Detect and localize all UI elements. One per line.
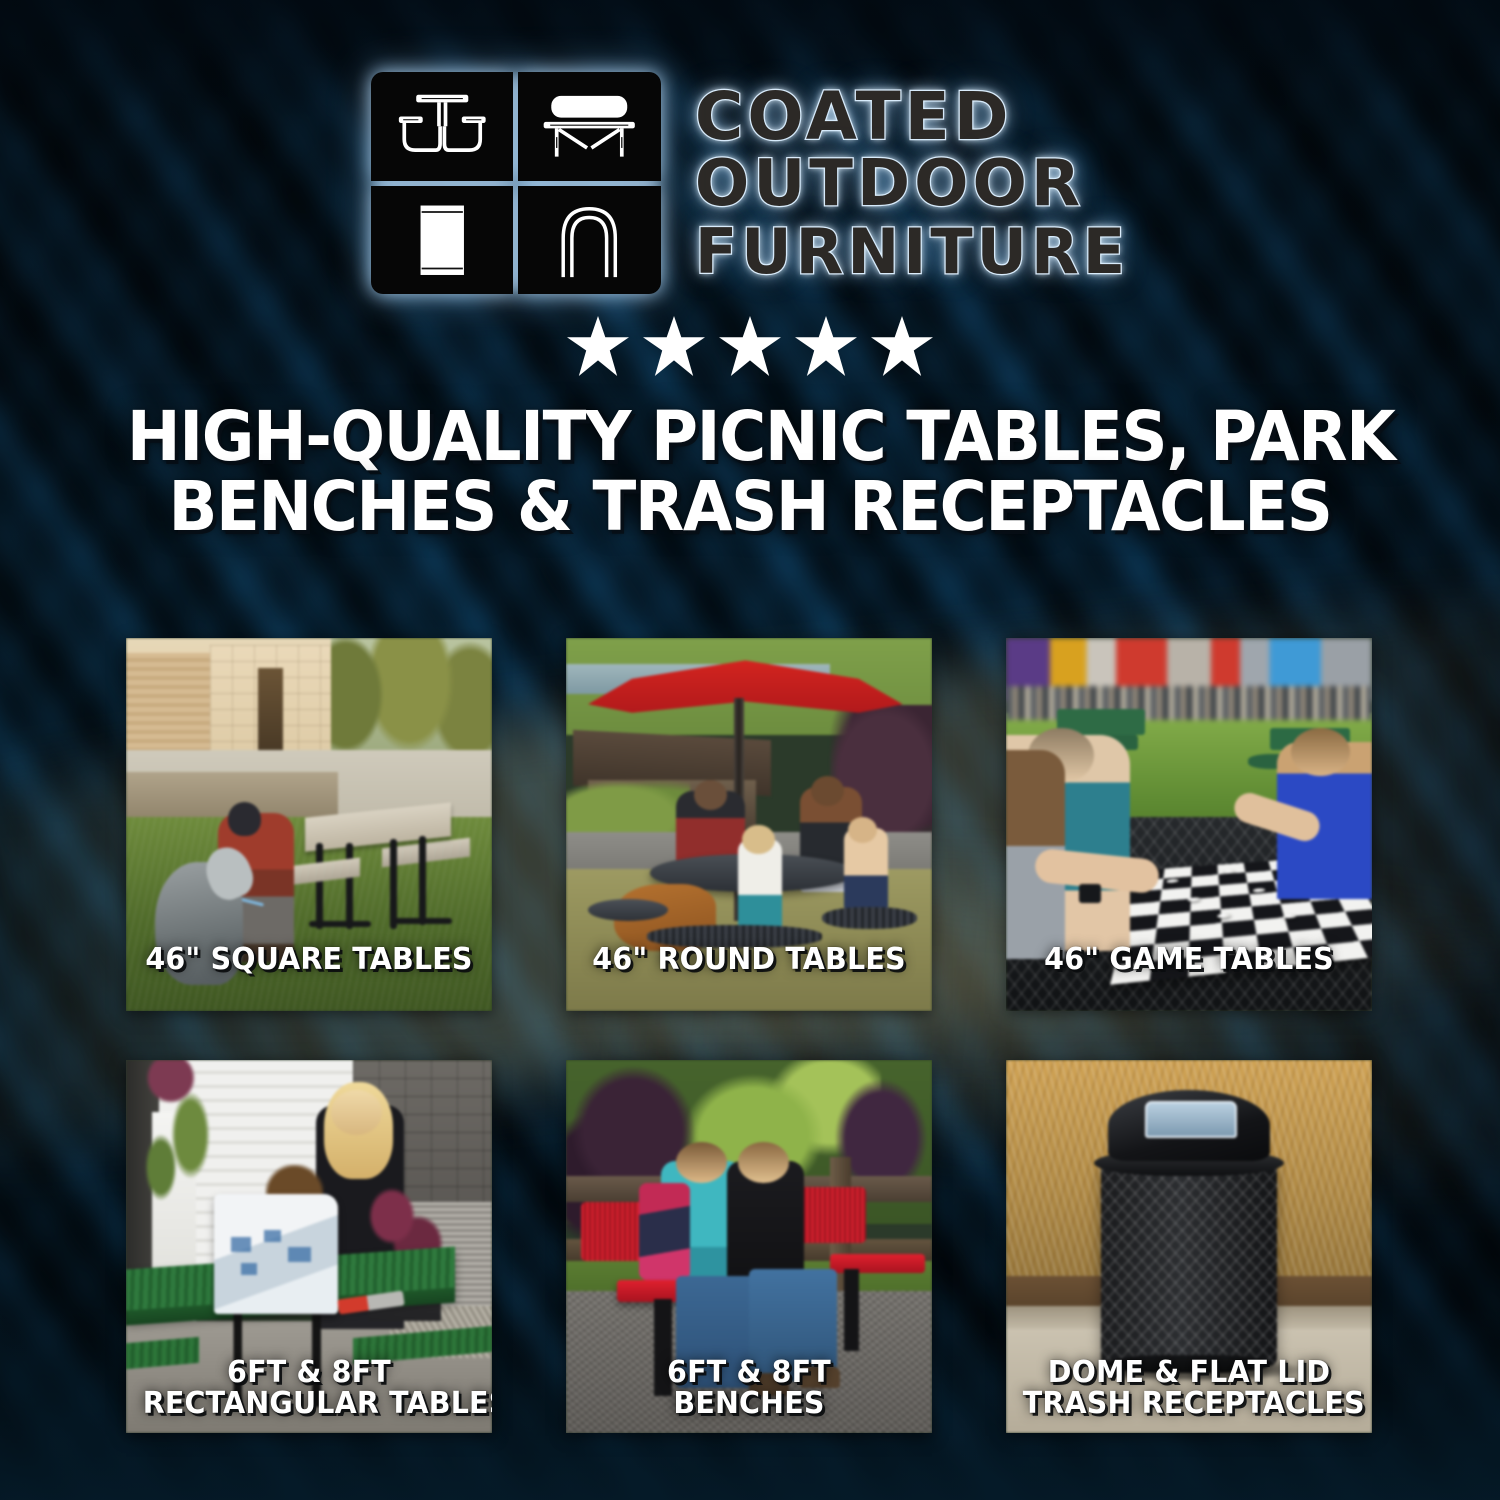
headline-line-2: BENCHES & TRASH RECEPTACLES bbox=[127, 472, 1373, 542]
trash-receptacle-icon bbox=[371, 186, 514, 295]
product-caption-benches: 6FT & 8FT BENCHES bbox=[575, 1357, 923, 1419]
arch-bike-rack-icon bbox=[518, 186, 661, 295]
product-caption-rectangular-tables: 6FT & 8FT RECTANGULAR TABLES bbox=[135, 1357, 483, 1419]
caption-line-1: DOME & FLAT LID bbox=[1023, 1357, 1356, 1388]
product-caption-square-tables: 46" SQUARE TABLES bbox=[135, 944, 483, 975]
product-tile-trash-receptacles[interactable]: DOME & FLAT LID TRASH RECEPTACLES bbox=[1006, 1060, 1372, 1433]
product-caption-game-tables: 46" GAME TABLES bbox=[1015, 944, 1363, 975]
bench-table-icon bbox=[518, 72, 661, 181]
product-tile-rectangular-tables[interactable]: 6FT & 8FT RECTANGULAR TABLES bbox=[126, 1060, 492, 1433]
product-tile-benches[interactable]: 6FT & 8FT BENCHES bbox=[566, 1060, 932, 1433]
product-caption-round-tables: 46" ROUND TABLES bbox=[575, 944, 923, 975]
caption-line-1: 6FT & 8FT bbox=[583, 1357, 916, 1388]
headline-line-1: HIGH-QUALITY PICNIC TABLES, PARK bbox=[127, 402, 1373, 472]
caption-line-2: RECTANGULAR TABLES bbox=[143, 1388, 476, 1419]
product-tile-square-tables[interactable]: 46" SQUARE TABLES bbox=[126, 638, 492, 1011]
caption-line: 46" SQUARE TABLES bbox=[143, 944, 476, 975]
brand-name: COATED OUTDOOR FURNITURE bbox=[695, 85, 1129, 281]
star-icon-1 bbox=[567, 316, 629, 376]
product-caption-trash-receptacles: DOME & FLAT LID TRASH RECEPTACLES bbox=[1015, 1357, 1363, 1419]
star-icon-3 bbox=[719, 316, 781, 376]
brand-name-line-2: OUTDOOR bbox=[695, 154, 1129, 215]
star-rating bbox=[0, 316, 1500, 376]
caption-line-2: TRASH RECEPTACLES bbox=[1023, 1388, 1356, 1419]
brand-name-line-3: FURNITURE bbox=[695, 222, 1129, 282]
caption-line-1: 6FT & 8FT bbox=[143, 1357, 476, 1388]
caption-line: 46" GAME TABLES bbox=[1023, 944, 1356, 975]
star-icon-4 bbox=[795, 316, 857, 376]
caption-line-2: BENCHES bbox=[583, 1388, 916, 1419]
brand-header: COATED OUTDOOR FURNITURE bbox=[0, 0, 1500, 294]
product-tile-game-tables[interactable]: 46" GAME TABLES bbox=[1006, 638, 1372, 1011]
caption-line: 46" ROUND TABLES bbox=[583, 944, 916, 975]
star-icon-2 bbox=[643, 316, 705, 376]
product-grid: 46" SQUARE TABLES bbox=[126, 638, 1375, 1433]
poster-content: COATED OUTDOOR FURNITURE HIGH-QUALITY PI… bbox=[0, 0, 1500, 1500]
star-icon-5 bbox=[871, 316, 933, 376]
page-title: HIGH-QUALITY PICNIC TABLES, PARK BENCHES… bbox=[127, 402, 1373, 543]
product-tile-round-tables[interactable]: 46" ROUND TABLES bbox=[566, 638, 932, 1011]
picnic-table-icon bbox=[371, 72, 514, 181]
brand-logo-mark bbox=[371, 72, 661, 294]
brand-name-line-1: COATED bbox=[695, 85, 1129, 148]
